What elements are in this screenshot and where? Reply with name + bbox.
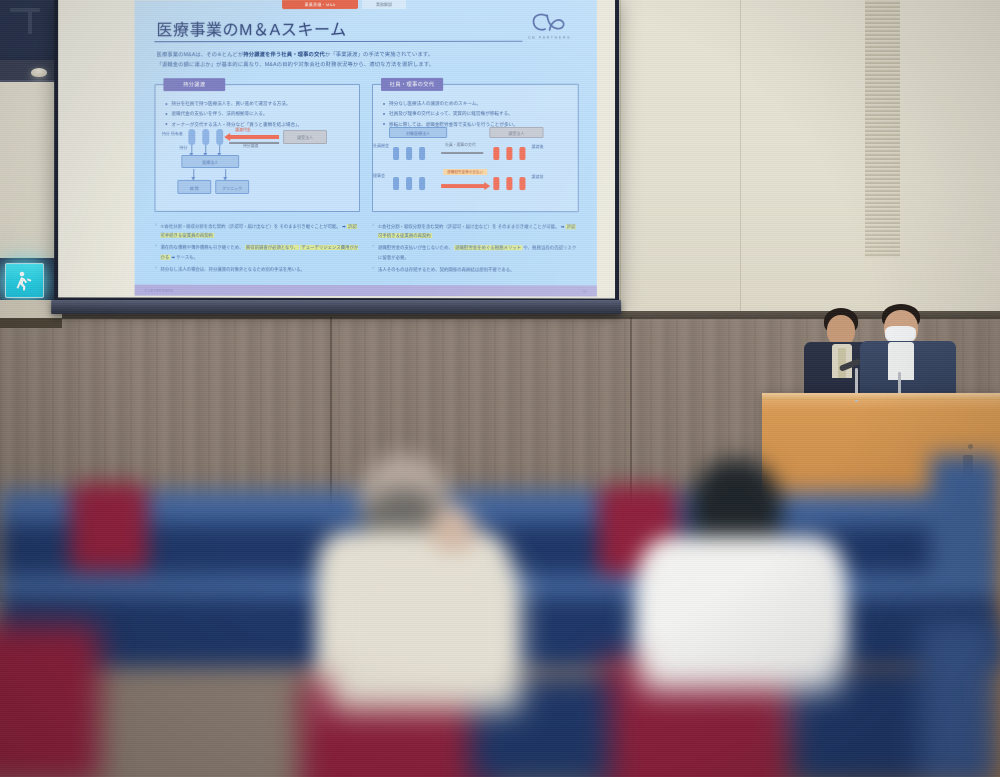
diagram-label-share: 持分 <box>177 145 189 150</box>
slide-footer: © CB PARTNERS 11 <box>135 285 597 297</box>
owner-pill <box>188 129 195 145</box>
note-item: 退職慰労金の支払いが生じないため、 退職慰労金をめぐる税務メリット や、税務当局… <box>372 243 579 262</box>
slide-subcategory-tab: 実務解説 <box>362 0 406 9</box>
notes-right: ①会社分割・吸収分割を含む契約（許認可・届け出など）を そのまま引き継ぐことが可… <box>372 222 579 277</box>
connector <box>219 145 220 154</box>
label-before: 譲渡前 <box>531 174 549 179</box>
tag-share-transfer: 持分譲渡 <box>243 144 258 149</box>
new-member-bar <box>493 147 499 160</box>
box-acquirer-corp-label: 譲受法人 <box>490 131 542 136</box>
lead-text-bold: 持分譲渡を伴う社員・理事の交代 <box>243 52 325 58</box>
note-text: ケースも。 <box>176 255 198 260</box>
director-bar <box>393 177 399 190</box>
company-logo-text: CB PARTNERS <box>518 36 580 40</box>
presentation-photo: 事業承継・M&A 実務解説 医療事業のM＆Aスキーム CB PARTNERS <box>0 0 1000 777</box>
panel-body: 社員・理事の交代 持分なし医療法人の譲渡のためのスキーム。 社員及び理事の交代に… <box>372 84 579 212</box>
box-clinic: クリニック <box>215 180 249 194</box>
arrow-payment-flow <box>441 184 485 188</box>
ceiling-trim <box>10 8 40 12</box>
note-text: 退職慰労金の支払いが生じないため、 <box>378 245 453 250</box>
exit-sign <box>5 263 44 298</box>
white-shirt <box>888 342 914 380</box>
bullet: 持分なし医療法人の譲渡のためのスキーム。 <box>383 99 573 109</box>
lead-text-a: 医療事業のM&Aは、その※とんどが <box>156 52 243 58</box>
slide-panels: 持分譲渡 持分を社員で持つ医療法人を、買い進めて運営する方法。 退職代金の支払い… <box>154 84 578 212</box>
attendee-center-lower <box>330 560 520 710</box>
note-item: 法人そのものは存続するため、契約関係の再締結は原則不要である。 <box>372 265 579 275</box>
note-text: ①会社分割・吸収分割を含む契約（許認可・届け出など）を <box>160 224 278 229</box>
note-text: そのまま引き継ぐことが可能。 <box>498 224 560 229</box>
bullet: 持分を社員で持つ医療法人を、買い進めて運営する方法。 <box>165 99 354 109</box>
box-hospital-label: 病 院 <box>178 185 210 190</box>
new-director-bar <box>506 177 512 190</box>
slide-subcategory-tab-label: 実務解説 <box>376 1 392 7</box>
panel-bullets-left: 持分を社員で持つ医療法人を、買い進めて運営する方法。 退職代金の支払いを伴う、法… <box>165 99 354 130</box>
notes-left: ①会社分割・吸収分割を含む契約（許認可・届け出など）を そのまま引き継ぐことが可… <box>154 222 360 277</box>
member-bar <box>393 147 399 160</box>
podium-fitting <box>968 444 973 449</box>
diagram-right: 対象医療法人 譲受法人 社員総会 社員・理事の交代 <box>373 127 578 211</box>
arrow-replacement <box>441 152 483 154</box>
note-text: 持分なし法人の場合は、持分譲渡の対象外となるため別の手法を用いる。 <box>160 267 304 272</box>
panel-body: 持分譲渡 持分を社員で持つ医療法人を、買い進めて運営する方法。 退職代金の支払い… <box>154 84 360 212</box>
slide-category-tab: 事業承継・M&A <box>282 0 358 9</box>
slide-lead-paragraph: 医療事業のM&Aは、その※とんどが持分譲渡を伴う社員・理事の交代か「事業譲渡」の… <box>156 50 571 71</box>
screen-surface: 事業承継・M&A 実務解説 医療事業のM＆Aスキーム CB PARTNERS <box>58 0 615 299</box>
panel-shain-riji-kotai: 社員・理事の交代 持分なし医療法人の譲渡のためのスキーム。 社員及び理事の交代に… <box>372 84 579 212</box>
panel-header-right: 社員・理事の交代 <box>381 78 443 91</box>
director-bar <box>419 177 425 190</box>
note-highlight: 買収前調査が必須となり、 <box>245 245 299 250</box>
box-target-corp: 対象医療法人 <box>389 127 447 138</box>
wall-seam <box>620 0 621 317</box>
ceiling-soffit <box>0 60 58 82</box>
running-man-exit-icon <box>12 269 38 293</box>
connector <box>191 145 192 154</box>
connector <box>225 169 226 178</box>
box-medical-corp-label: 医療法人 <box>182 160 238 165</box>
head-partial <box>430 505 476 557</box>
slide-footer-left: © CB PARTNERS <box>145 288 174 292</box>
lead-text-c: か「事業譲渡」の手法で実施されています。 <box>325 52 433 58</box>
title-underline <box>154 41 522 43</box>
attendee-right-lower <box>640 560 840 690</box>
note-arrow: ➡ <box>561 224 565 229</box>
diagram-label-owner: 持分 所有者 <box>159 131 185 136</box>
note-text: ①会社分割・吸収分割を含む契約（許認可・届け出など）を <box>378 224 496 229</box>
note-highlight: 退職慰労金をめぐる税務メリット <box>454 246 522 251</box>
slide-page-number: 11 <box>583 289 587 293</box>
note-arrow: ➡ <box>171 255 175 260</box>
side-panel <box>930 455 1000 575</box>
seat-back-front <box>0 624 100 777</box>
panel-bullets-right: 持分なし医療法人の譲渡のためのスキーム。 社員及び理事の交代によって、実質的に経… <box>383 99 573 130</box>
caption-replacement: 社員・理事の交代 <box>445 143 475 148</box>
note-item: ①会社分割・吸収分割を含む契約（許認可・届け出など）を そのまま引き継ぐことが可… <box>372 222 579 241</box>
door-kickplate <box>0 318 62 328</box>
new-member-bar <box>506 147 512 160</box>
downlight-icon <box>31 68 47 77</box>
ceiling-trim <box>28 8 32 34</box>
note-text: そのまま引き継ぐことが可能。 <box>279 224 340 229</box>
note-arrow: ➡ <box>342 224 346 229</box>
box-acquirer-label: 譲受法人 <box>284 135 326 140</box>
owner-pill <box>202 129 209 145</box>
member-bar <box>406 147 412 160</box>
panel-mochibun-joto: 持分譲渡 持分を社員で持つ医療法人を、買い進めて運営する方法。 退職代金の支払い… <box>154 84 360 212</box>
owner-pill <box>216 129 223 145</box>
label-board-of-directors: 理事会 <box>373 173 391 178</box>
wall-seam <box>740 0 741 317</box>
slide-category-tab-label: 事業承継・M&A <box>304 1 335 7</box>
box-target-corp-label: 対象医療法人 <box>390 131 446 136</box>
tag-transfer-price: 譲渡代金 <box>235 127 251 133</box>
diagram-left: 持分 所有者 持分 譲渡代金 <box>155 127 359 211</box>
wall-vent <box>865 0 900 258</box>
member-bar <box>419 147 425 160</box>
bullet: 社員及び理事の交代によって、実質的に経営権が移転する。 <box>383 109 573 119</box>
company-logo: CB PARTNERS <box>518 12 580 40</box>
new-member-bar <box>519 147 525 160</box>
slide-notes: ①会社分割・吸収分割を含む契約（許認可・届け出など）を そのまま引き継ぐことが可… <box>154 222 578 277</box>
screen-weight-bar <box>51 300 621 314</box>
audience-front-row <box>0 560 1000 777</box>
presentation-slide: 事業承継・M&A 実務解説 医療事業のM＆Aスキーム CB PARTNERS <box>135 0 597 297</box>
projection-screen: 事業承継・M&A 実務解説 医療事業のM＆Aスキーム CB PARTNERS <box>54 0 619 307</box>
note-text: 潜在的な債務や簿外債務も引き継ぐため、 <box>160 245 243 250</box>
connector <box>205 145 206 154</box>
slide-title: 医療事業のM＆Aスキーム <box>156 16 346 40</box>
side-panel-lower <box>920 620 1000 777</box>
new-director-bar <box>493 177 499 190</box>
box-hospital: 病 院 <box>177 180 211 194</box>
box-clinic-label: クリニック <box>216 185 248 190</box>
caption-retirement-payment: 退職慰労金等の支払い <box>443 169 487 176</box>
note-item: ①会社分割・吸収分割を含む契約（許認可・届け出など）を そのまま引き継ぐことが可… <box>154 222 360 241</box>
lead-text-d: 「退職金の額に運ぶか」が基本的に異なり、M&Aの目的や対象会社の財務状況等から、… <box>156 62 434 68</box>
seat-back <box>70 483 148 571</box>
note-text: 法人そのものは存続するため、契約関係の再締結は原則不要である。 <box>378 267 514 272</box>
box-acquirer: 譲受法人 <box>283 130 327 144</box>
new-director-bar <box>519 177 525 190</box>
note-item: 潜在的な債務や簿外債務も引き継ぐため、 買収前調査が必須となり、 デューデリジェ… <box>154 243 360 262</box>
box-medical-corp: 医療法人 <box>181 155 239 168</box>
box-acquirer-corp: 譲受法人 <box>489 127 543 138</box>
connector <box>193 169 194 178</box>
panel-header-left: 持分譲渡 <box>163 78 225 91</box>
director-bar <box>406 177 412 190</box>
label-after: 譲渡後 <box>531 144 549 149</box>
cb-infinity-logo-icon <box>529 12 569 34</box>
bullet: 退職代金の支払いを伴う、法的根拠等に入る。 <box>165 109 354 119</box>
arrow-payment <box>229 135 279 139</box>
podium-top-edge <box>762 393 1000 400</box>
note-item: 持分なし法人の場合は、持分譲渡の対象外となるため別の手法を用いる。 <box>154 265 360 275</box>
label-shareholders-meeting: 社員総会 <box>373 143 391 148</box>
